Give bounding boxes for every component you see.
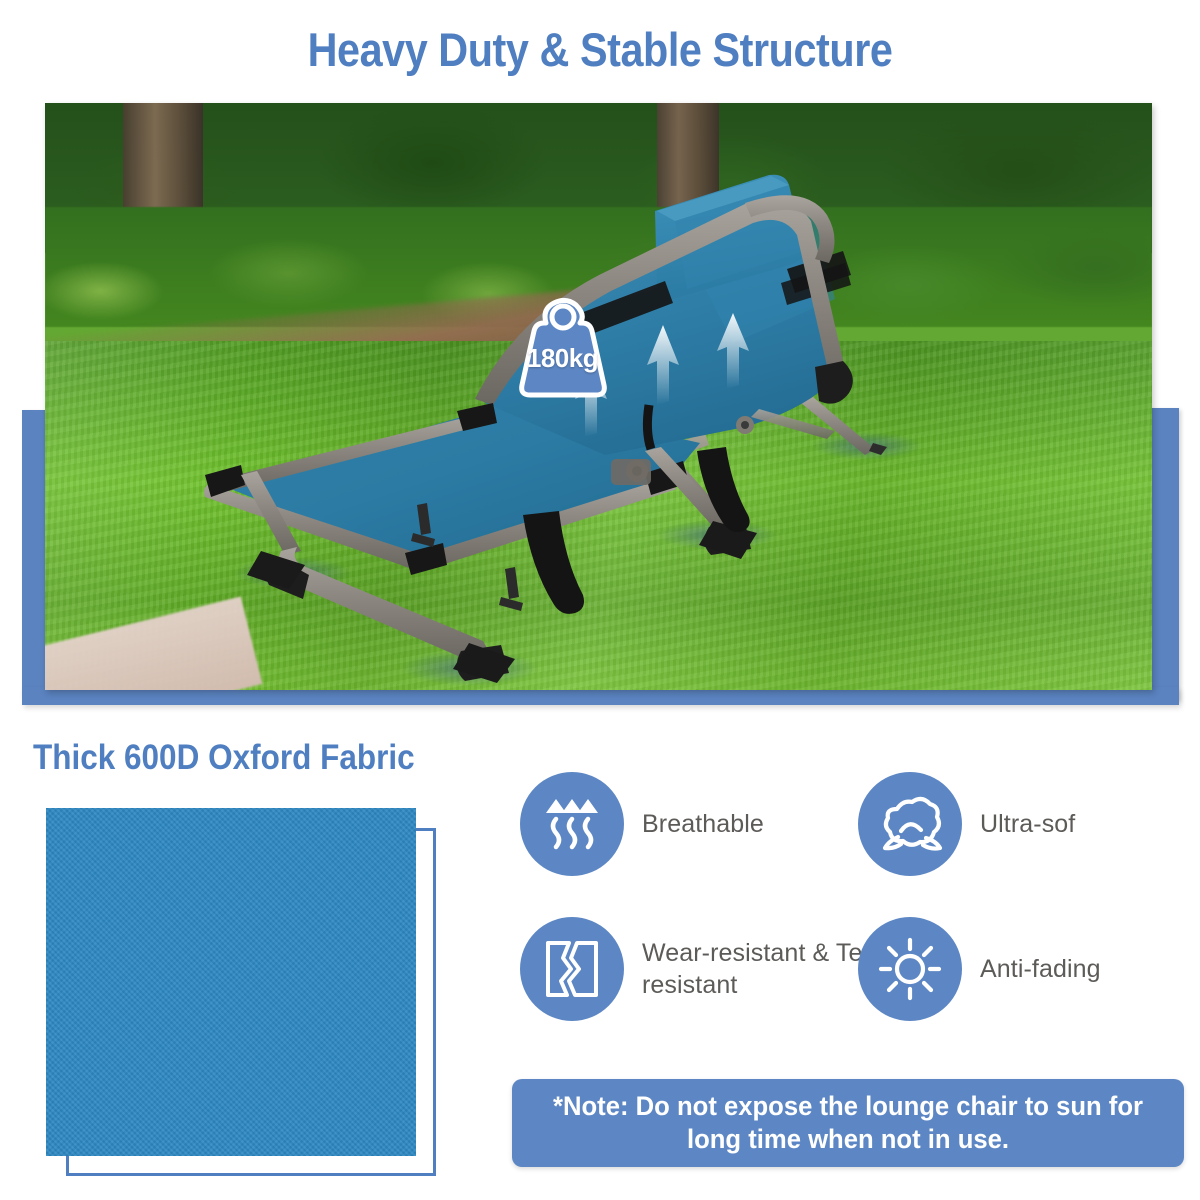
- sun-icon: [858, 917, 962, 1021]
- feature-label-anti-fading: Anti-fading: [980, 953, 1101, 985]
- weight-capacity-value: 180kg: [500, 343, 625, 374]
- ultra-soft-icon: [858, 772, 962, 876]
- feature-grid: Breathable Ultra-sof: [520, 772, 1192, 1050]
- feature-ultra-soft: Ultra-sof: [858, 772, 1075, 876]
- feature-breathable: Breathable: [520, 772, 764, 876]
- hero-photo: 180kg: [45, 103, 1152, 690]
- weight-capacity-badge: 180kg: [500, 293, 625, 403]
- note-box: *Note: Do not expose the lounge chair to…: [512, 1079, 1184, 1167]
- breathable-icon: [520, 772, 624, 876]
- note-text: *Note: Do not expose the lounge chair to…: [544, 1090, 1152, 1157]
- product-infographic: Heavy Duty & Stable Structure: [0, 0, 1200, 1200]
- fabric-section-title: Thick 600D Oxford Fabric: [33, 738, 415, 778]
- feature-anti-fading: Anti-fading: [858, 917, 1101, 1021]
- feature-wear-resistant: Wear-resistant & Tear-resistant: [520, 917, 902, 1021]
- hero-section: 180kg: [0, 95, 1200, 710]
- page-title: Heavy Duty & Stable Structure: [72, 22, 1128, 77]
- feature-label-ultra-soft: Ultra-sof: [980, 808, 1075, 840]
- wear-resistant-icon: [520, 917, 624, 1021]
- feature-label-breathable: Breathable: [642, 808, 764, 840]
- fabric-swatch: [46, 808, 416, 1156]
